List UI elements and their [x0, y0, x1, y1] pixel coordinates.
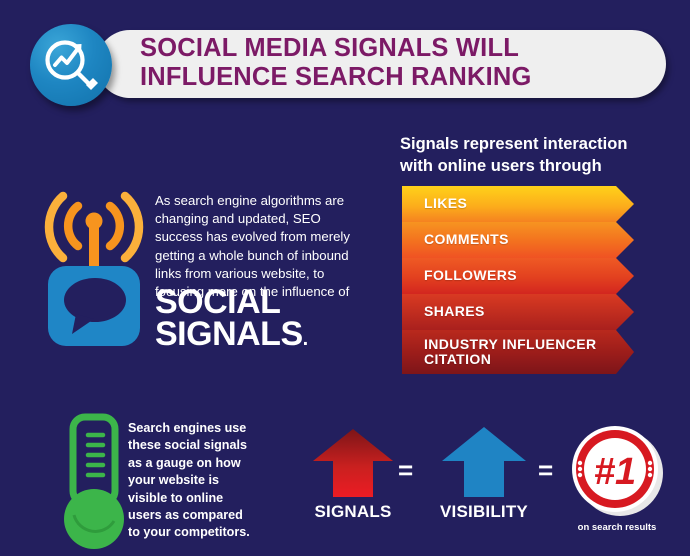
signal-banner-label: COMMENTS [402, 232, 509, 248]
signal-banner-label: SHARES [402, 304, 485, 320]
rank-badge-icon: #1 [558, 421, 676, 519]
equation-label-signals: SIGNALS [300, 502, 406, 522]
emphasis-period: . [303, 328, 308, 350]
right-heading-line1: Signals represent interaction [400, 135, 627, 153]
page-title-line1: SOCIAL MEDIA SIGNALS WILL [140, 34, 519, 62]
signal-banner-followers[interactable]: FOLLOWERS [402, 258, 634, 294]
signal-banner-label: INDUSTRY INFLUENCER CITATION [402, 337, 597, 368]
signal-banner-label: FOLLOWERS [402, 268, 517, 284]
equation-term-visibility: VISIBILITY [421, 425, 547, 522]
equation-operator-2: = [538, 455, 553, 486]
page-title-line2: INFLUENCE SEARCH RANKING [140, 63, 640, 92]
signal-banner-list: LIKES COMMENTS FOLLOWERS SHARES INDUSTRY… [402, 186, 634, 374]
signal-banner-industry-influencer-citation[interactable]: INDUSTRY INFLUENCER CITATION [402, 330, 634, 374]
signal-banner-likes[interactable]: LIKES [402, 186, 634, 222]
equation-term-signals: SIGNALS [300, 425, 406, 522]
logo-badge [30, 24, 112, 106]
right-heading-line2: with online users through [400, 155, 650, 177]
rank-badge-text: #1 [594, 451, 636, 493]
infographic-canvas: SOCIAL MEDIA SIGNALS WILL INFLUENCE SEAR… [0, 0, 690, 556]
equation-label-visibility: VISIBILITY [421, 502, 547, 522]
broadcast-speech-bubble-icon [42, 188, 146, 348]
page-title: SOCIAL MEDIA SIGNALS WILL INFLUENCE SEAR… [140, 34, 640, 92]
signal-banner-shares[interactable]: SHARES [402, 294, 634, 330]
equation-operator-1: = [398, 455, 413, 486]
signal-banner-label: LIKES [402, 196, 467, 212]
up-arrow-red-icon [300, 425, 406, 497]
equation-row: SIGNALS = VISIBILITY = [286, 425, 676, 535]
up-arrow-blue-icon [421, 425, 547, 497]
search-growth-icon [30, 24, 112, 106]
right-heading: Signals represent interaction with onlin… [400, 133, 650, 177]
emphasis-line2: SIGNALS. [155, 318, 308, 355]
signal-banner-comments[interactable]: COMMENTS [402, 222, 634, 258]
rank-badge-caption: on search results [558, 522, 676, 533]
social-signals-emphasis: SOCIAL SIGNALS. [155, 286, 308, 355]
thermometer-gauge-icon [58, 403, 130, 553]
equation-term-rank: #1 on search results [558, 421, 676, 533]
thermometer-paragraph: Search engines use these social signals … [128, 420, 258, 542]
